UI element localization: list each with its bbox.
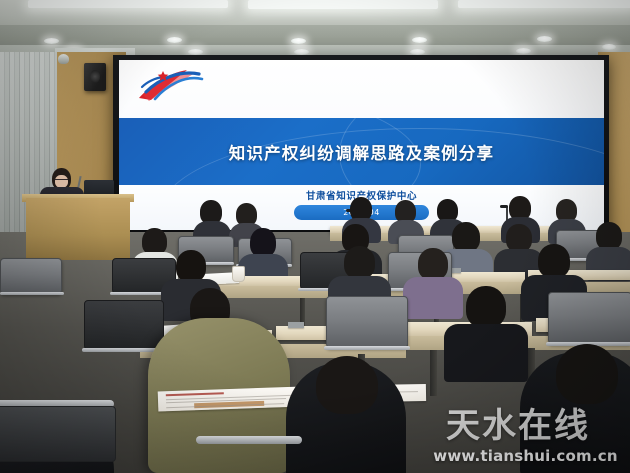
person-head (142, 228, 167, 255)
chair (548, 292, 630, 344)
person-head (506, 224, 532, 252)
ip-protection-center-logo (133, 65, 205, 111)
person-head (452, 222, 480, 252)
downlight (516, 48, 531, 54)
handout-paper (288, 322, 304, 328)
watermark-url: www.tianshui.com.cn (428, 447, 623, 465)
panel-light (28, 0, 228, 8)
chair (0, 406, 116, 462)
desk-leg (430, 350, 437, 396)
person-head (250, 228, 276, 257)
person-torso (403, 277, 463, 319)
downlight (291, 38, 306, 44)
microphone-capsule (500, 205, 508, 208)
presenter-glasses (55, 179, 68, 183)
ceiling-soffit (0, 25, 630, 47)
person-head-foreground-center (316, 356, 378, 414)
slide-title: 知识产权纠纷调解思路及案例分享 (119, 118, 604, 185)
paper-cup (232, 266, 245, 282)
speaker-cone (90, 70, 100, 83)
person-torso (444, 324, 528, 382)
person-head (176, 250, 206, 282)
downlight (602, 44, 616, 50)
person-head (596, 222, 622, 250)
screenshot-root: 知识产权纠纷调解思路及案例分享 甘肃省知识产权保护中心 2024.04 (0, 0, 630, 473)
downlight (537, 36, 552, 42)
downlight (167, 37, 182, 43)
chair-frame-bar (0, 292, 64, 295)
downlight (44, 38, 59, 44)
downlight (412, 37, 427, 43)
watermark-logo: 天水在线 (418, 396, 618, 448)
panel-light (248, 0, 438, 9)
chair-frame-foreground (196, 436, 302, 444)
person-head (538, 244, 570, 278)
person-head (466, 286, 506, 328)
panel-light (458, 0, 630, 8)
chair-frame-bar (324, 346, 410, 350)
chair (326, 296, 408, 348)
person-head-foreground-right (556, 344, 618, 404)
chair (84, 300, 164, 350)
lectern (26, 198, 130, 260)
chair (0, 258, 62, 294)
security-camera-icon (58, 54, 69, 64)
person-head (344, 246, 375, 279)
person-head (418, 248, 448, 280)
